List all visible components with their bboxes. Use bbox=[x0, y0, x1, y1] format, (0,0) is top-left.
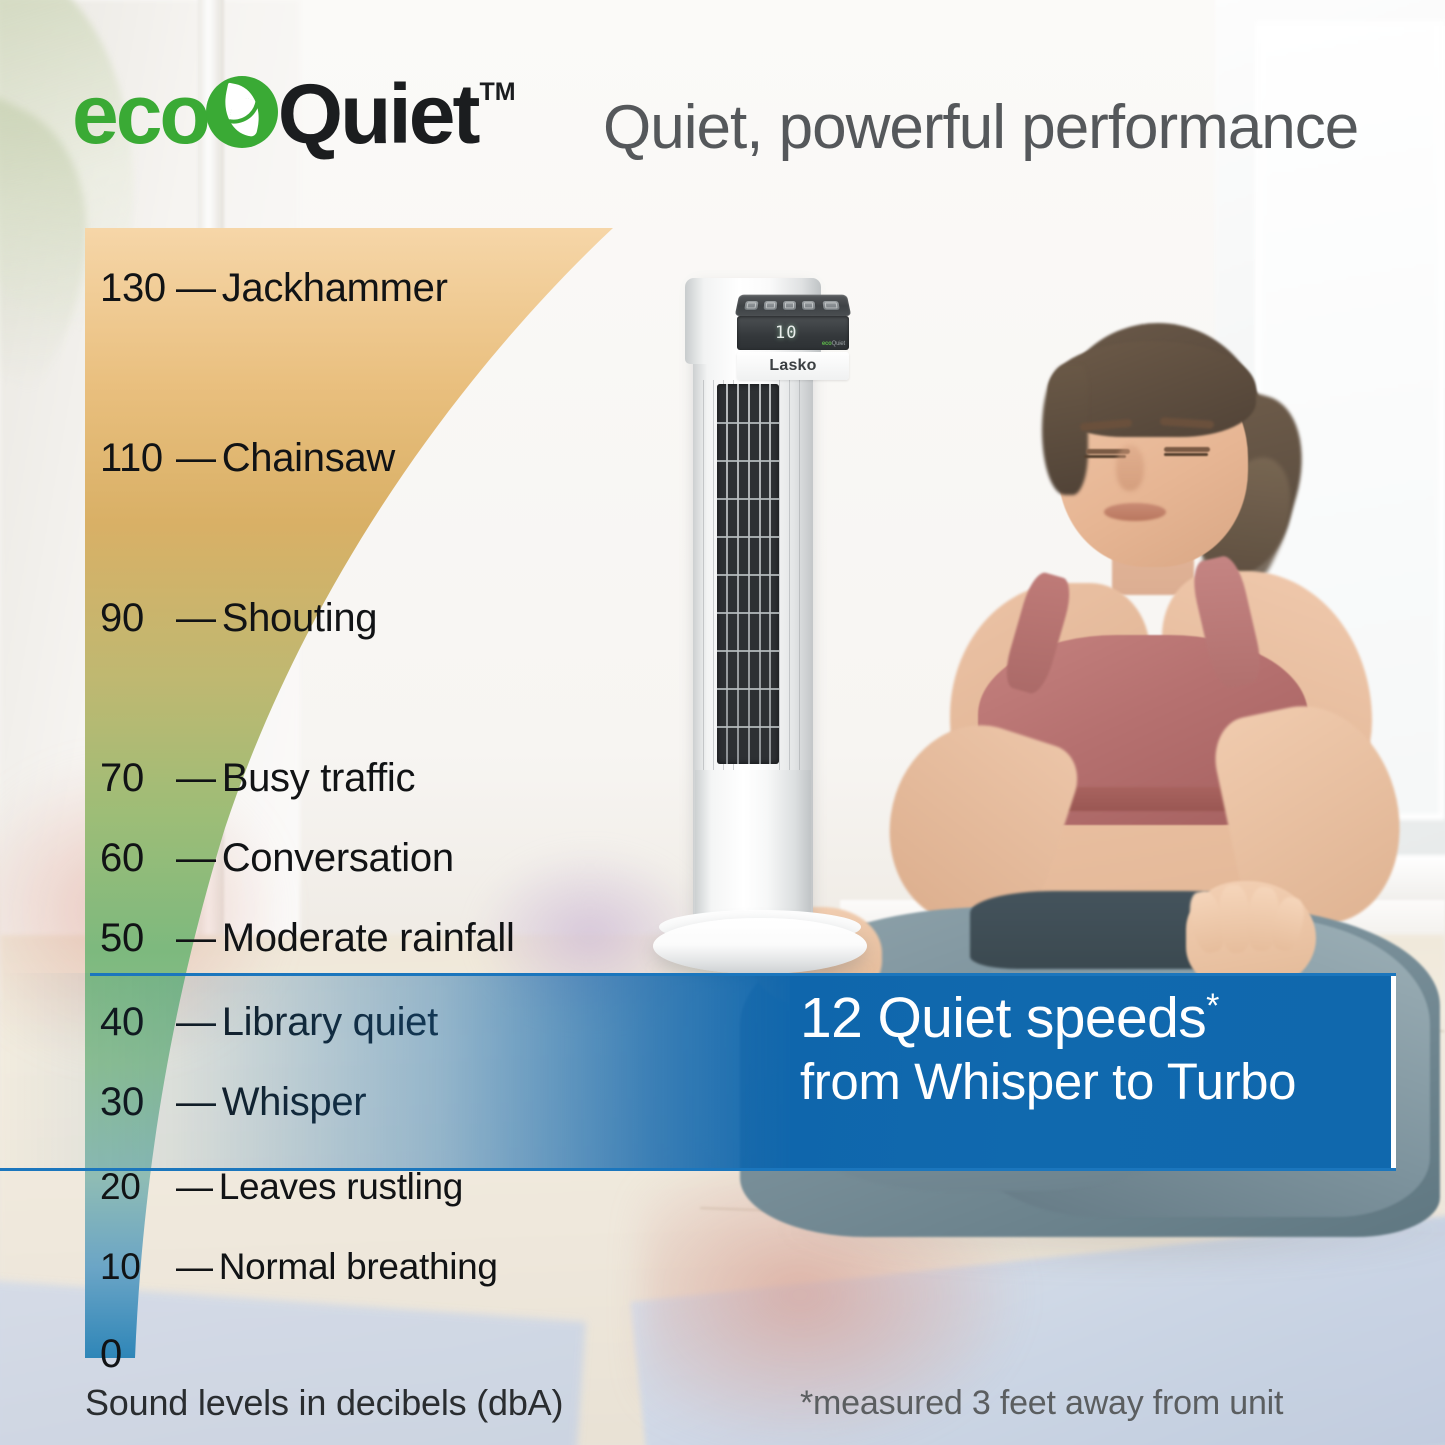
banner-bottom-rule bbox=[0, 1168, 1396, 1171]
db-dash: — bbox=[176, 836, 216, 881]
infographic-canvas: 10 ecoQuiet Lasko bbox=[0, 0, 1445, 1445]
decibel-rows: 130—Jackhammer 110—Chainsaw 90—Shouting … bbox=[85, 228, 725, 1358]
banner-text-group: 12 Quiet speeds* from Whisper to Turbo bbox=[800, 987, 1400, 1110]
db-label: Normal breathing bbox=[219, 1246, 498, 1288]
scale-row-chainsaw: 110—Chainsaw bbox=[100, 436, 395, 481]
banner-top-rule bbox=[90, 973, 1396, 976]
mode-button[interactable] bbox=[783, 301, 796, 310]
banner-subline: from Whisper to Turbo bbox=[800, 1053, 1400, 1110]
eyelash-right bbox=[1164, 453, 1208, 456]
scale-row-busy-traffic: 70—Busy traffic bbox=[100, 756, 415, 801]
fan-brand-plate: Lasko bbox=[737, 352, 849, 380]
db-label: Shouting bbox=[222, 596, 378, 641]
decibel-scale-chart: 130—Jackhammer 110—Chainsaw 90—Shouting … bbox=[85, 228, 625, 1358]
db-dash: — bbox=[176, 756, 216, 801]
db-dash: — bbox=[176, 916, 216, 961]
ecoquiet-logo: eco Quiet TM bbox=[72, 72, 516, 156]
db-value: 110 bbox=[100, 436, 174, 481]
banner-headline: 12 Quiet speeds* bbox=[800, 987, 1400, 1051]
scale-row-conversation: 60—Conversation bbox=[100, 836, 454, 881]
tagline: Quiet, powerful performance bbox=[603, 92, 1358, 163]
scale-row-jackhammer: 130—Jackhammer bbox=[100, 266, 448, 311]
db-value: 60 bbox=[100, 836, 174, 881]
eye-right-closed bbox=[1164, 447, 1210, 452]
db-value: 130 bbox=[100, 266, 174, 311]
db-dash: — bbox=[176, 1246, 213, 1288]
banner-headline-text: 12 Quiet speeds bbox=[800, 986, 1206, 1050]
leaf-icon bbox=[206, 74, 280, 150]
scale-row-leaves-rustling: 20—Leaves rustling bbox=[100, 1166, 463, 1208]
scale-row-moderate-rainfall: 50—Moderate rainfall bbox=[100, 916, 515, 961]
fan-display-screen: 10 ecoQuiet bbox=[737, 316, 849, 350]
db-dash: — bbox=[176, 1166, 213, 1208]
banner-gradient-overlay bbox=[0, 973, 800, 1171]
scale-row-normal-breathing: 10—Normal breathing bbox=[100, 1246, 498, 1288]
db-value: 20 bbox=[100, 1166, 174, 1208]
footnote-text: *measured 3 feet away from unit bbox=[800, 1384, 1283, 1423]
scale-row-shouting: 90—Shouting bbox=[100, 596, 377, 641]
db-value: 90 bbox=[100, 596, 174, 641]
fan-brand-label: Lasko bbox=[769, 357, 816, 375]
timer-button[interactable] bbox=[802, 301, 816, 310]
db-value: 10 bbox=[100, 1246, 174, 1288]
trademark-symbol: TM bbox=[479, 78, 515, 107]
logo-eco-text: eco bbox=[72, 72, 208, 156]
db-label: Jackhammer bbox=[222, 266, 448, 311]
fan-air-grille bbox=[717, 384, 779, 764]
scale-axis-zero: 0 bbox=[100, 1332, 122, 1377]
speed-button[interactable] bbox=[763, 301, 777, 310]
fan-speed-value: 10 bbox=[775, 323, 797, 343]
oscillate-button[interactable] bbox=[823, 301, 840, 310]
fan-display-ecoquiet-logo: ecoQuiet bbox=[822, 341, 845, 347]
db-label: Moderate rainfall bbox=[222, 916, 515, 961]
db-dash: — bbox=[176, 436, 216, 481]
db-value: 70 bbox=[100, 756, 174, 801]
db-label: Chainsaw bbox=[222, 436, 395, 481]
db-label: Busy traffic bbox=[222, 756, 416, 801]
nose bbox=[1116, 445, 1144, 491]
db-dash: — bbox=[176, 266, 216, 311]
banner-asterisk: * bbox=[1206, 987, 1219, 1025]
scale-caption: Sound levels in decibels (dbA) bbox=[85, 1382, 563, 1424]
lips bbox=[1104, 503, 1166, 521]
db-label: Conversation bbox=[222, 836, 454, 881]
header: eco Quiet TM Quiet, powerful performance bbox=[0, 0, 1445, 210]
db-value: 50 bbox=[100, 916, 174, 961]
meditating-woman-photo bbox=[830, 335, 1445, 975]
fan-control-panel[interactable] bbox=[735, 295, 852, 317]
db-label: Leaves rustling bbox=[219, 1166, 463, 1208]
logo-quiet-text: Quiet bbox=[278, 72, 478, 156]
quiet-speeds-banner: 12 Quiet speeds* from Whisper to Turbo bbox=[0, 973, 1396, 1171]
db-dash: — bbox=[176, 596, 216, 641]
power-button[interactable] bbox=[744, 301, 758, 310]
